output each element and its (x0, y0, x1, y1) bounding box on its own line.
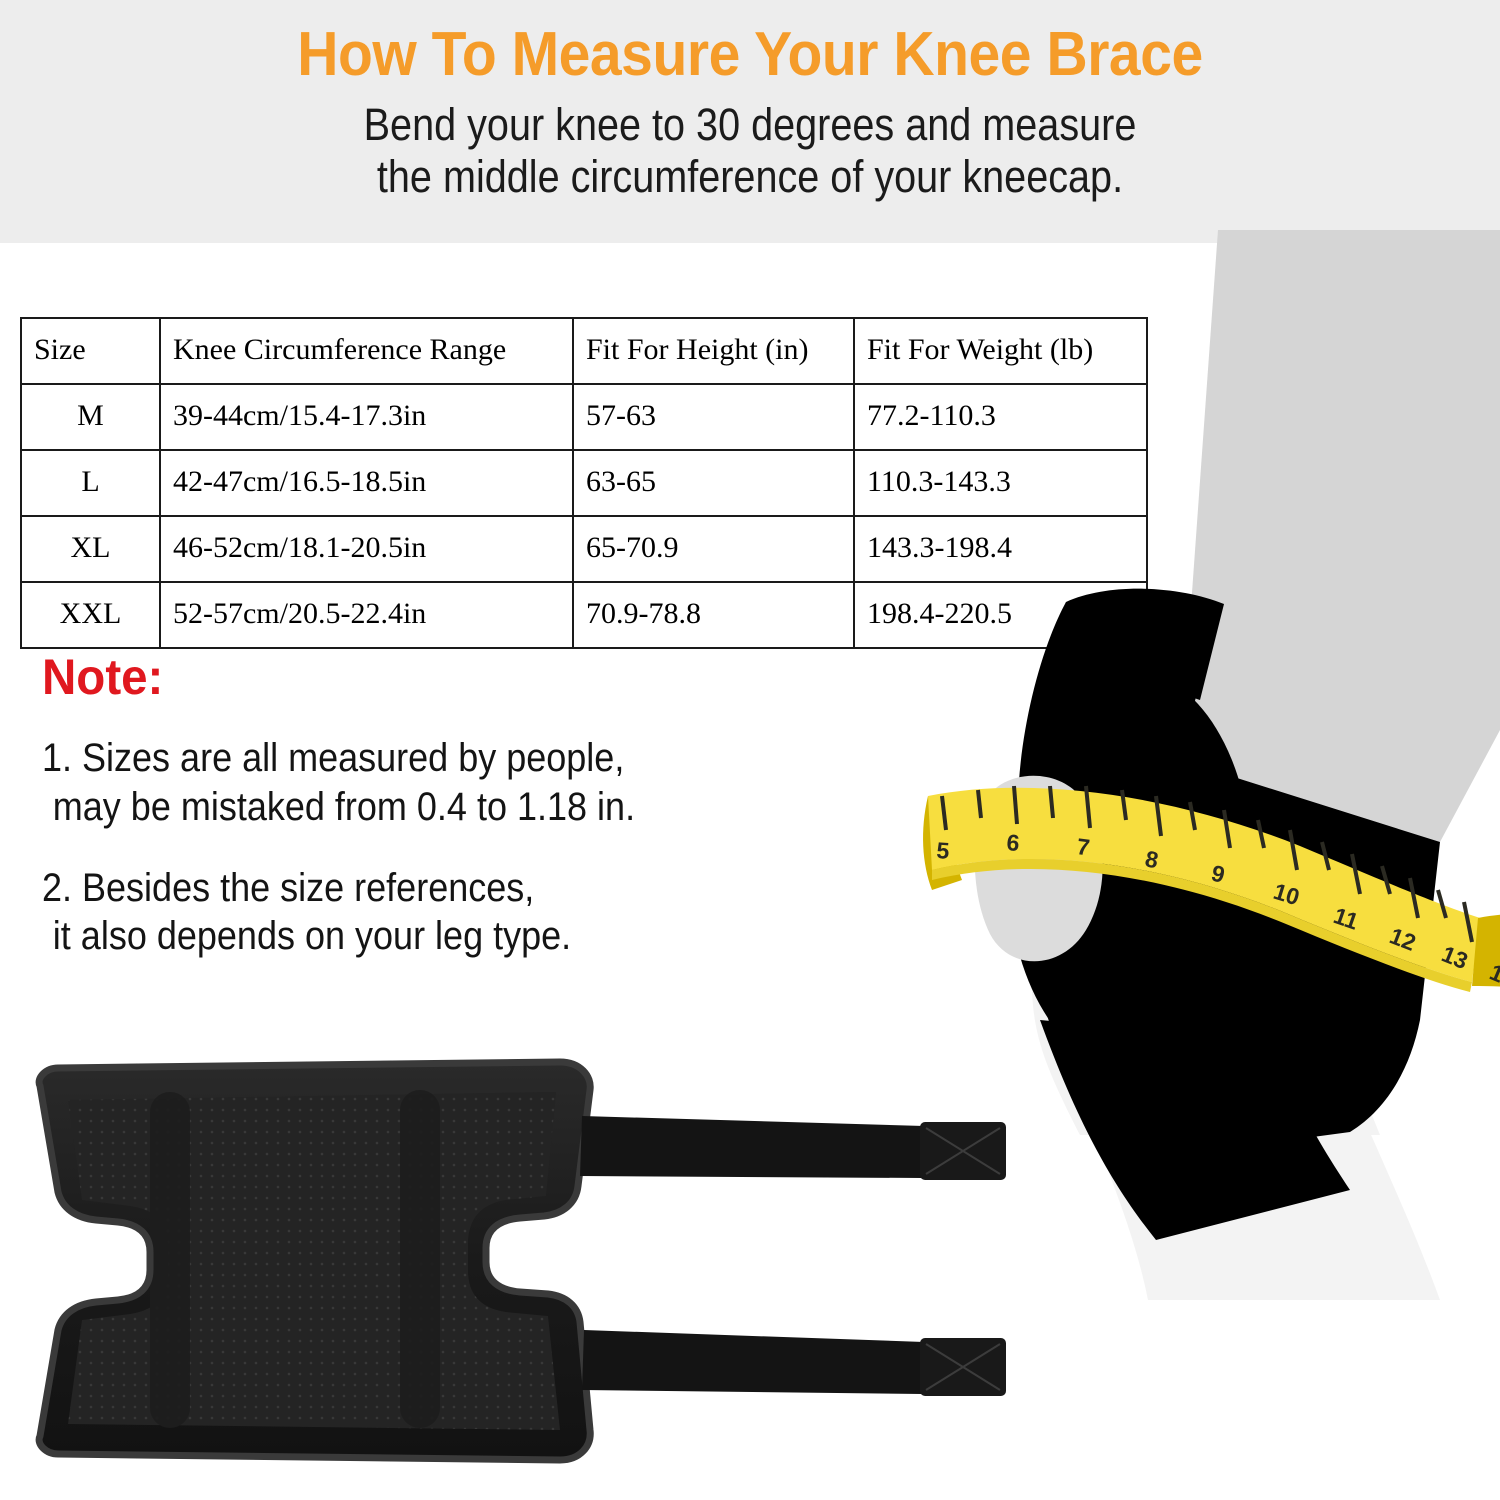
cell-height: 63-65 (573, 450, 854, 516)
note-item-1: 1. Sizes are all measured by people, may… (42, 702, 726, 832)
column-header-size: Size (21, 318, 160, 384)
note-section: Note: 1. Sizes are all measured by peopl… (42, 652, 802, 961)
cell-size: XXL (21, 582, 160, 648)
cell-height: 57-63 (573, 384, 854, 450)
cell-size: XL (21, 516, 160, 582)
cell-size: M (21, 384, 160, 450)
subtitle-line-1: Bend your knee to 30 degrees and measure (90, 99, 1410, 151)
brace-stay-left (150, 1092, 190, 1428)
knee-brace-product-image (0, 1030, 1050, 1500)
note-item-2-line-1: 2. Besides the size references, (42, 864, 726, 913)
note-item-1-line-2: may be mistaked from 0.4 to 1.18 in. (42, 783, 726, 832)
note-item-2: 2. Besides the size references, it also … (42, 832, 726, 962)
tape-label-5: 5 (936, 837, 951, 864)
brace-stay-right (400, 1090, 440, 1428)
cell-circumference: 42-47cm/16.5-18.5in (160, 450, 573, 516)
page-title: How To Measure Your Knee Brace (60, 0, 1440, 87)
cell-circumference: 39-44cm/15.4-17.3in (160, 384, 573, 450)
cell-height: 70.9-78.8 (573, 582, 854, 648)
brace-strap-upper (580, 1116, 924, 1178)
brace-strap-lower (582, 1330, 924, 1394)
header-band: How To Measure Your Knee Brace Bend your… (0, 0, 1500, 243)
note-heading: Note: (42, 652, 764, 702)
cell-circumference: 46-52cm/18.1-20.5in (160, 516, 573, 582)
cell-height: 65-70.9 (573, 516, 854, 582)
cell-size: L (21, 450, 160, 516)
column-header-height: Fit For Height (in) (573, 318, 854, 384)
note-item-1-line-1: 1. Sizes are all measured by people, (42, 734, 726, 783)
cell-circumference: 52-57cm/20.5-22.4in (160, 582, 573, 648)
column-header-circumference: Knee Circumference Range (160, 318, 573, 384)
thigh-shape (1180, 230, 1500, 842)
tape-label-6: 6 (1006, 829, 1021, 856)
page-subtitle: Bend your knee to 30 degrees and measure… (90, 87, 1410, 203)
note-item-2-line-2: it also depends on your leg type. (42, 912, 726, 961)
subtitle-line-2: the middle circumference of your kneecap… (90, 151, 1410, 203)
